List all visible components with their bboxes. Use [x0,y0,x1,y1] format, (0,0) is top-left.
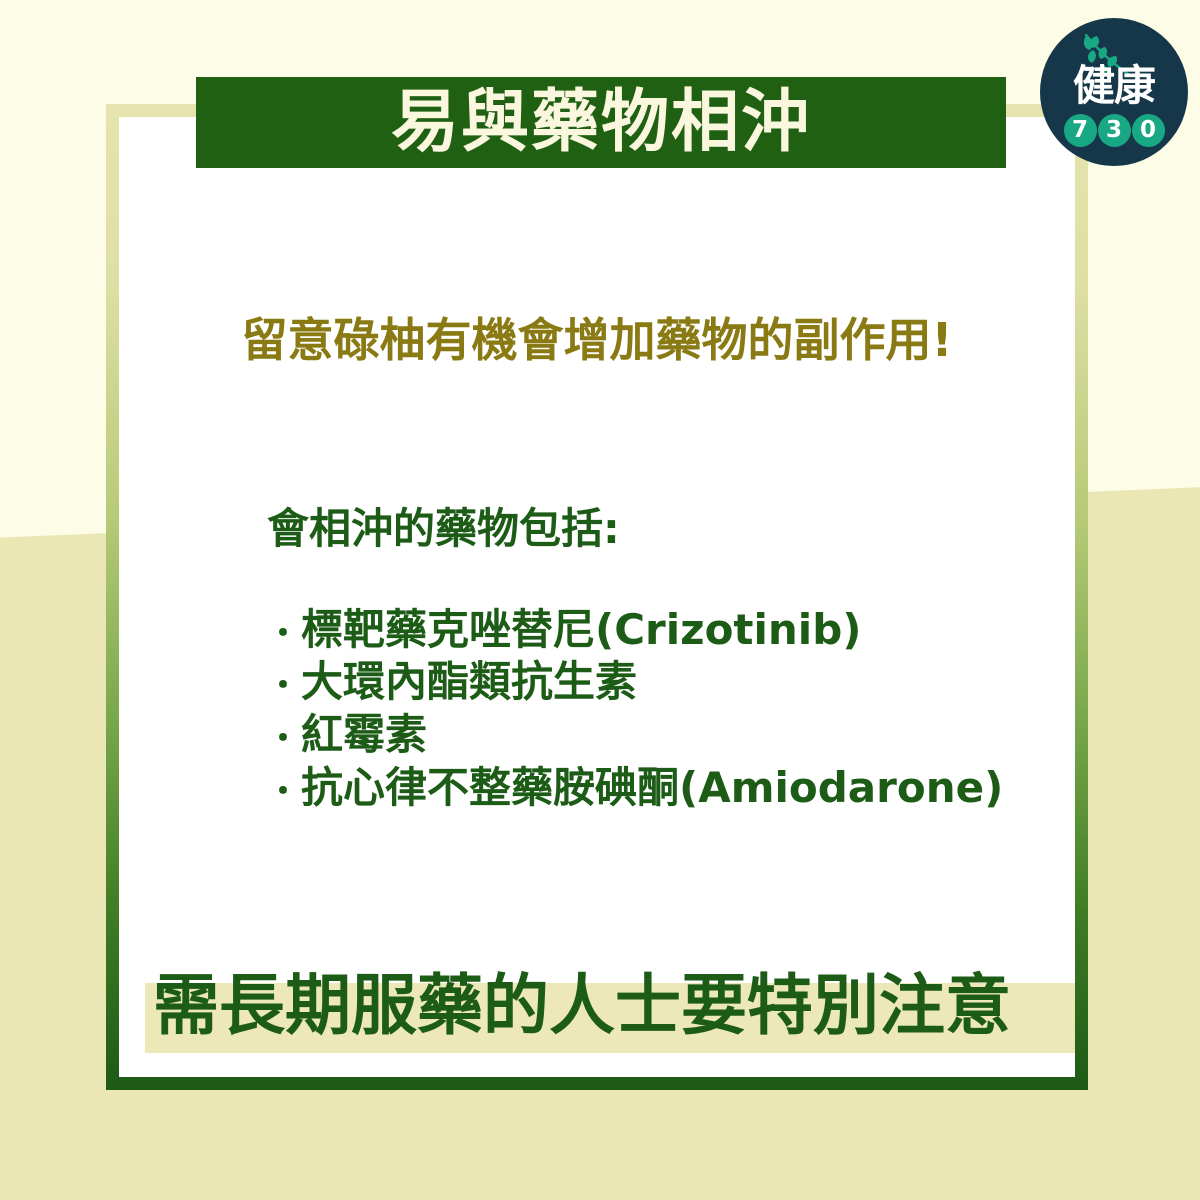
content-card: 留意碌柚有機會增加藥物的副作用! 會相沖的藥物包括: ・ 標靶藥克唑替尼(Cri… [106,104,1088,1090]
body-heading: 會相沖的藥物包括: [267,503,955,556]
list-item: ・ 大環內酯類抗生素 [267,656,955,709]
drug-list: ・ 標靶藥克唑替尼(Crizotinib) ・ 大環內酯類抗生素 ・ 紅霉素 ・… [267,604,955,816]
bullet-dot-icon: ・ [267,775,301,807]
highlight-text: 需長期服藥的人士要特別注意 [153,955,1011,1057]
list-item-label: 大環內酯類抗生素 [301,656,637,709]
title-banner: 易與藥物相沖 [196,77,1006,168]
logo-digit: 3 [1098,114,1131,147]
list-item-label: 抗心律不整藥胺碘酮(Amiodarone) [301,762,1003,815]
page-title: 易與藥物相沖 [391,89,811,157]
list-item-label: 紅霉素 [301,709,427,762]
list-item: ・ 標靶藥克唑替尼(Crizotinib) [267,604,955,657]
logo-wordmark: 健康 [1040,65,1188,107]
bullet-dot-icon: ・ [267,617,301,649]
subtitle-text: 留意碌柚有機會增加藥物的副作用! [119,313,1075,368]
logo-digit: 7 [1064,114,1097,147]
content-card-inner: 留意碌柚有機會增加藥物的副作用! 會相沖的藥物包括: ・ 標靶藥克唑替尼(Cri… [119,117,1075,1077]
body-content: 會相沖的藥物包括: ・ 標靶藥克唑替尼(Crizotinib) ・ 大環內酯類抗… [267,503,955,815]
logo-digit: 0 [1132,114,1165,147]
brand-logo: 健康 7 3 0 [1040,18,1188,166]
bullet-dot-icon: ・ [267,669,301,701]
list-item: ・ 抗心律不整藥胺碘酮(Amiodarone) [267,762,955,815]
logo-digits: 7 3 0 [1040,114,1188,147]
highlight-callout: 需長期服藥的人士要特別注意 [119,955,1075,1059]
bullet-dot-icon: ・ [267,722,301,754]
poster-root: 留意碌柚有機會增加藥物的副作用! 會相沖的藥物包括: ・ 標靶藥克唑替尼(Cri… [0,0,1200,1200]
list-item-label: 標靶藥克唑替尼(Crizotinib) [301,604,861,657]
list-item: ・ 紅霉素 [267,709,955,762]
